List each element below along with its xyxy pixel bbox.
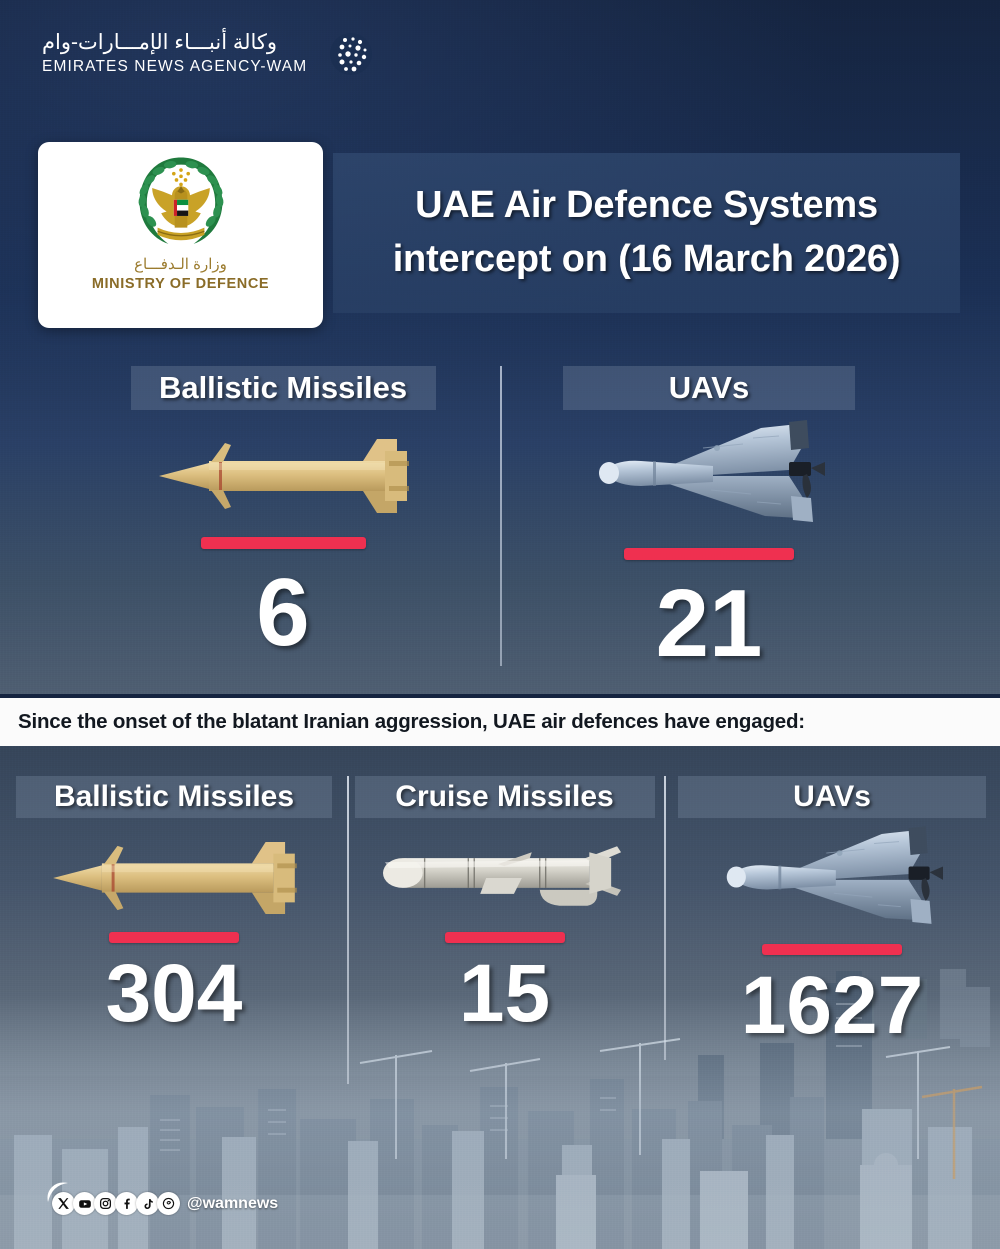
- accent-bar-uavs-daily: [624, 548, 794, 560]
- daily-stat-label-ballistic-missiles: Ballistic Missiles: [131, 366, 436, 410]
- uae-falcon-emblem: [127, 150, 235, 254]
- cumulative-stat-value-ballistic-missiles: 304: [106, 953, 243, 1035]
- bottom-divider-1: [347, 776, 349, 1084]
- uav-drone-icon: [593, 418, 825, 528]
- cumulative-stat-label-uavs: UAVs: [678, 776, 986, 818]
- agency-name-english: EMIRATES NEWS AGENCY-WAM: [42, 58, 307, 77]
- cumulative-banner: Since the onset of the blatant Iranian a…: [0, 698, 1000, 746]
- ministry-name-english: MINISTRY OF DEFENCE: [92, 276, 269, 292]
- cumulative-stat-label-cruise-missiles: Cruise Missiles: [355, 776, 655, 818]
- ministry-of-defence-card: وزارة الـدفـــاع MINISTRY OF DEFENCE: [38, 142, 323, 328]
- youtube-icon[interactable]: [73, 1192, 96, 1215]
- title-line-1: UAE Air Defence Systems: [415, 179, 878, 233]
- x-icon[interactable]: [52, 1192, 75, 1215]
- social-footer[interactable]: @wamnews: [52, 1192, 278, 1215]
- wam-wordmark: وكالة أنبـــاء الإمـــارات-وام EMIRATES …: [42, 31, 307, 77]
- daily-stat-value-uavs: 21: [656, 576, 763, 672]
- agency-name-arabic: وكالة أنبـــاء الإمـــارات-وام: [42, 31, 277, 55]
- cumulative-stat-cruise-missiles: Cruise Missiles: [352, 776, 657, 1035]
- cumulative-stat-value-uavs: 1627: [741, 965, 923, 1047]
- cumulative-stat-uavs: UAVs 1627: [676, 776, 988, 1047]
- accent-bar-ballistic-daily: [201, 537, 366, 549]
- banner-text: Since the onset of the blatant Iranian a…: [0, 710, 805, 734]
- ballistic-missile-icon: [33, 840, 315, 916]
- cruise-missile-icon: [381, 844, 629, 916]
- cumulative-stat-ballistic-missiles: Ballistic Missiles 304: [14, 776, 334, 1035]
- social-handle[interactable]: @wamnews: [187, 1195, 278, 1213]
- accent-bar-uavs-cumulative: [762, 944, 902, 955]
- facebook-icon[interactable]: [115, 1192, 138, 1215]
- tiktok-icon[interactable]: [136, 1192, 159, 1215]
- daily-stat-value-ballistic-missiles: 6: [256, 565, 309, 661]
- cumulative-stat-value-cruise-missiles: 15: [459, 953, 550, 1035]
- infographic-root: وكالة أنبـــاء الإمـــارات-وام EMIRATES …: [0, 0, 1000, 1249]
- cumulative-stat-label-ballistic-missiles: Ballistic Missiles: [16, 776, 332, 818]
- bottom-divider-2: [664, 776, 666, 1060]
- accent-bar-ballistic-cumulative: [109, 932, 239, 943]
- uav-drone-icon: [721, 824, 943, 930]
- daily-stat-uavs: UAVs: [561, 366, 857, 672]
- ballistic-missile-icon: [153, 437, 413, 515]
- page-title: UAE Air Defence Systems intercept on (16…: [333, 153, 960, 313]
- threads-icon[interactable]: [157, 1192, 180, 1215]
- daily-stat-label-uavs: UAVs: [563, 366, 855, 410]
- accent-bar-cruise-cumulative: [445, 932, 565, 943]
- top-section-divider: [500, 366, 502, 666]
- daily-stat-ballistic-missiles: Ballistic Missiles 6: [128, 366, 438, 661]
- wam-globe-icon: [321, 28, 373, 80]
- title-line-2: intercept on (16 March 2026): [393, 233, 901, 287]
- ministry-name-arabic: وزارة الـدفـــاع: [134, 255, 227, 273]
- instagram-icon[interactable]: [94, 1192, 117, 1215]
- wam-header: وكالة أنبـــاء الإمـــارات-وام EMIRATES …: [42, 28, 373, 80]
